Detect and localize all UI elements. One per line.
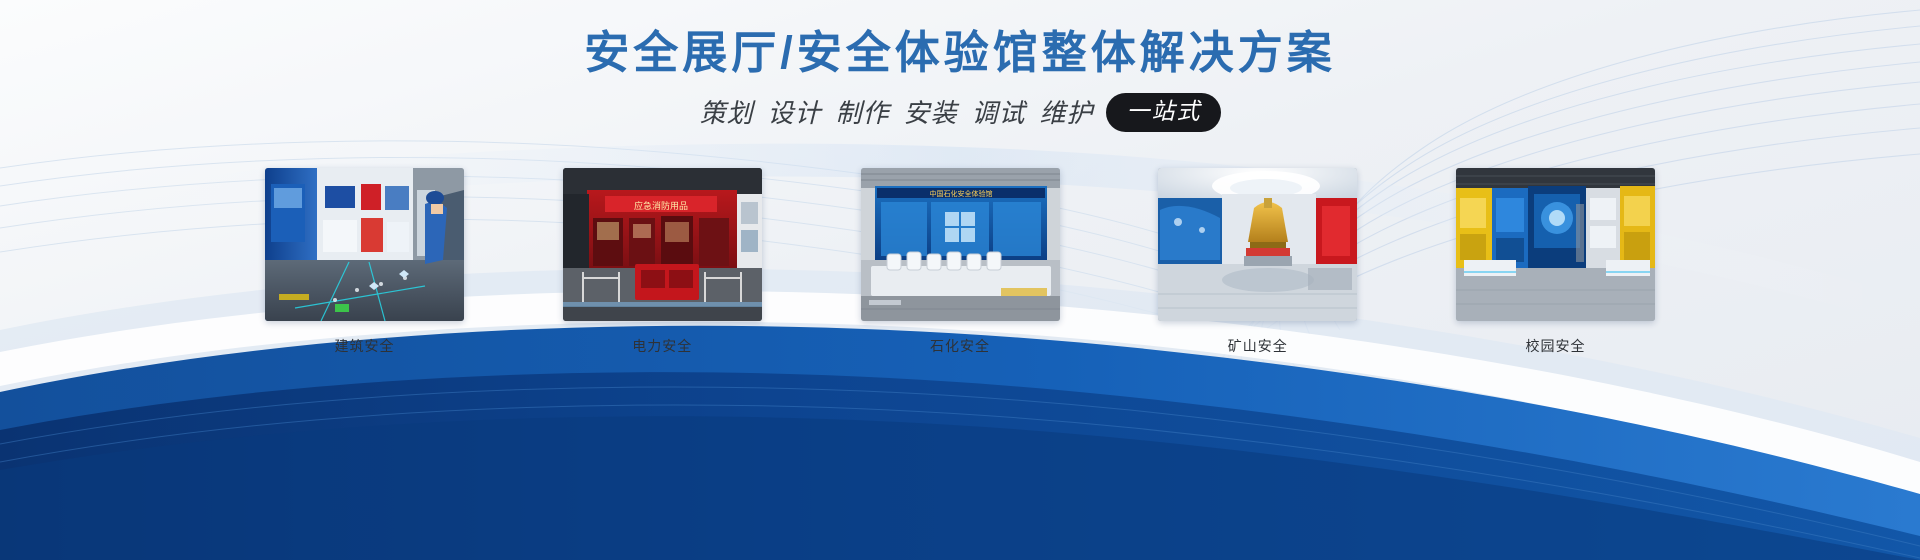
service-step-2: 设计 — [767, 98, 821, 128]
case-caption-construction: 建筑安全 — [265, 336, 464, 356]
case-caption-campus: 校园安全 — [1456, 336, 1655, 356]
case-caption-mining: 矿山安全 — [1158, 336, 1357, 356]
electric-power-safety-hall-image: 应急消防用品 — [563, 168, 762, 321]
service-step-1: 策划 — [699, 98, 753, 128]
service-step-5: 调试 — [972, 98, 1026, 128]
case-thumbnail-power[interactable]: 应急消防用品 — [563, 168, 762, 321]
case-card-power[interactable]: 应急消防用品 — [563, 168, 762, 356]
case-card-campus[interactable]: 校园安全 — [1456, 168, 1655, 356]
service-steps-row: 策划设计制作安装调试维护 一站式 — [0, 92, 1920, 131]
case-thumbnail-mining[interactable] — [1158, 168, 1357, 321]
campus-safety-hall-image — [1456, 168, 1655, 321]
construction-safety-hall-image — [265, 168, 464, 321]
case-thumbnail-list: 建筑安全 应急消防用品 — [265, 168, 1655, 356]
service-step-3: 制作 — [835, 98, 889, 128]
svg-text:应急消防用品: 应急消防用品 — [634, 200, 688, 212]
one-stop-badge: 一站式 — [1106, 93, 1221, 132]
service-steps-list: 策划设计制作安装调试维护 — [699, 93, 1105, 130]
case-card-petrochemical[interactable]: 中国石化安全体验馆 — [861, 168, 1060, 356]
petrochemical-safety-hall-image: 中国石化安全体验馆 — [861, 168, 1060, 321]
page-title: 安全展厅/安全体验馆整体解决方案 — [0, 0, 1920, 79]
case-thumbnail-campus[interactable] — [1456, 168, 1655, 321]
safety-exhibition-banner: 安全展厅/安全体验馆整体解决方案 策划设计制作安装调试维护 一站式 — [0, 0, 1920, 560]
headline-block: 安全展厅/安全体验馆整体解决方案 策划设计制作安装调试维护 一站式 — [0, 0, 1920, 131]
case-thumbnail-petrochemical[interactable]: 中国石化安全体验馆 — [861, 168, 1060, 321]
case-card-mining[interactable]: 矿山安全 — [1158, 168, 1357, 356]
case-caption-petrochemical: 石化安全 — [861, 336, 1060, 356]
svg-text:中国石化安全体验馆: 中国石化安全体验馆 — [929, 189, 992, 198]
mining-safety-hall-image — [1158, 168, 1357, 321]
service-step-6: 维护 — [1040, 98, 1094, 128]
service-step-4: 安装 — [904, 98, 958, 128]
case-card-construction[interactable]: 建筑安全 — [265, 168, 464, 356]
case-thumbnail-construction[interactable] — [265, 168, 464, 321]
case-caption-power: 电力安全 — [563, 336, 762, 356]
